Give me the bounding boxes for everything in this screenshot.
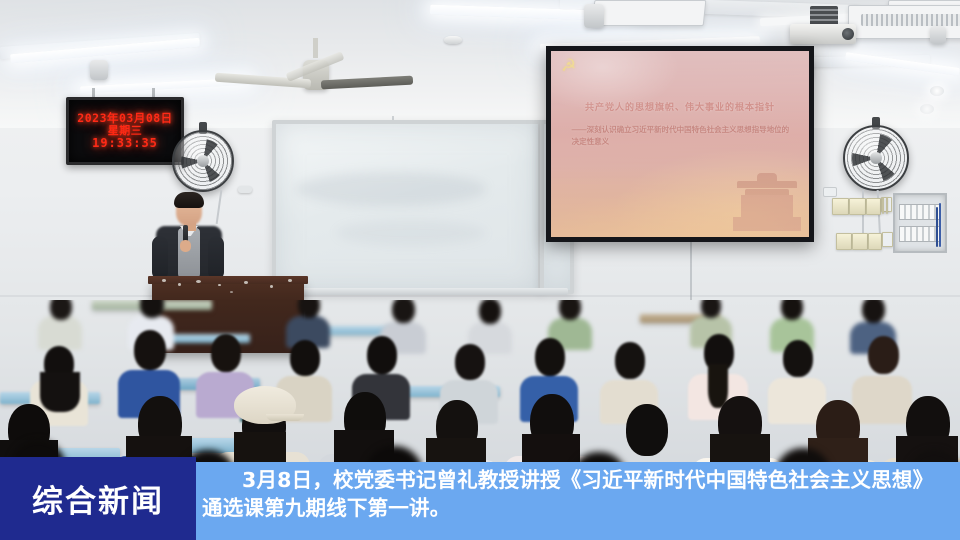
caption-line-1: 3月8日，校党委书记曾礼教授讲授《习近平新时代中国特色社会主义思想》 xyxy=(202,466,954,494)
ceiling-speaker xyxy=(90,60,108,80)
tiananmen-silhouette xyxy=(731,171,803,231)
light-switch[interactable] xyxy=(852,233,868,250)
led-clock-time: 19:33:35 xyxy=(92,137,158,149)
news-category-label: 综合新闻 xyxy=(32,476,164,521)
downlight xyxy=(930,86,944,96)
light-switch[interactable] xyxy=(882,232,893,247)
light-switch[interactable] xyxy=(866,198,881,215)
ceiling-speaker xyxy=(584,4,604,28)
whiteboard-tray xyxy=(268,288,568,295)
wall-seam-lower xyxy=(0,295,960,297)
wall-mounted-fan-right xyxy=(843,125,909,191)
ceiling-fan xyxy=(225,54,405,96)
whiteboard xyxy=(272,120,542,294)
hammer-and-sickle-icon: ☭ xyxy=(561,57,581,75)
led-clock-weekday: 星期三 xyxy=(108,125,143,136)
wall-socket xyxy=(823,187,837,197)
light-switch[interactable] xyxy=(836,233,852,250)
light-switch[interactable] xyxy=(832,198,849,215)
caption-text: 3月8日，校党委书记曾礼教授讲授《习近平新时代中国特色社会主义思想》 通选课第九… xyxy=(202,466,954,523)
wall-mounted-fan-left xyxy=(172,130,234,192)
slide-subtitle: ——深刻认识确立习近平新时代中国特色社会主义思想指导地位的决定性意义 xyxy=(572,124,791,150)
wall-outlet xyxy=(238,186,252,193)
lecture-hall-screenshot: 2023年03月08日 星期三 19:33:35 ☭ 共产党人的思想旗帜、伟大事… xyxy=(0,0,960,540)
light-switch[interactable] xyxy=(849,198,866,215)
news-category-badge: 综合新闻 xyxy=(0,457,196,540)
ceiling-projector xyxy=(790,6,856,46)
led-clock-date: 2023年03月08日 xyxy=(77,113,172,125)
led-clock-display: 2023年03月08日 星期三 19:33:35 xyxy=(66,97,184,165)
projection-screen: ☭ 共产党人的思想旗帜、伟大事业的根本指针 ——深刻认识确立习近平新时代中国特色… xyxy=(546,46,814,242)
ceiling-ac-unit xyxy=(592,0,707,26)
projected-slide: ☭ 共产党人的思想旗帜、伟大事业的根本指针 ——深刻认识确立习近平新时代中国特色… xyxy=(551,51,809,237)
ceiling-speaker xyxy=(930,26,946,44)
caption-line-2: 通选课第九期线下第一讲。 xyxy=(202,494,954,522)
smoke-detector xyxy=(444,36,462,44)
light-switch[interactable] xyxy=(868,233,882,250)
electrical-breaker-panel xyxy=(893,193,947,253)
slide-title: 共产党人的思想旗帜、伟大事业的根本指针 xyxy=(566,101,793,115)
downlight xyxy=(920,104,934,114)
lecturer xyxy=(150,192,228,287)
